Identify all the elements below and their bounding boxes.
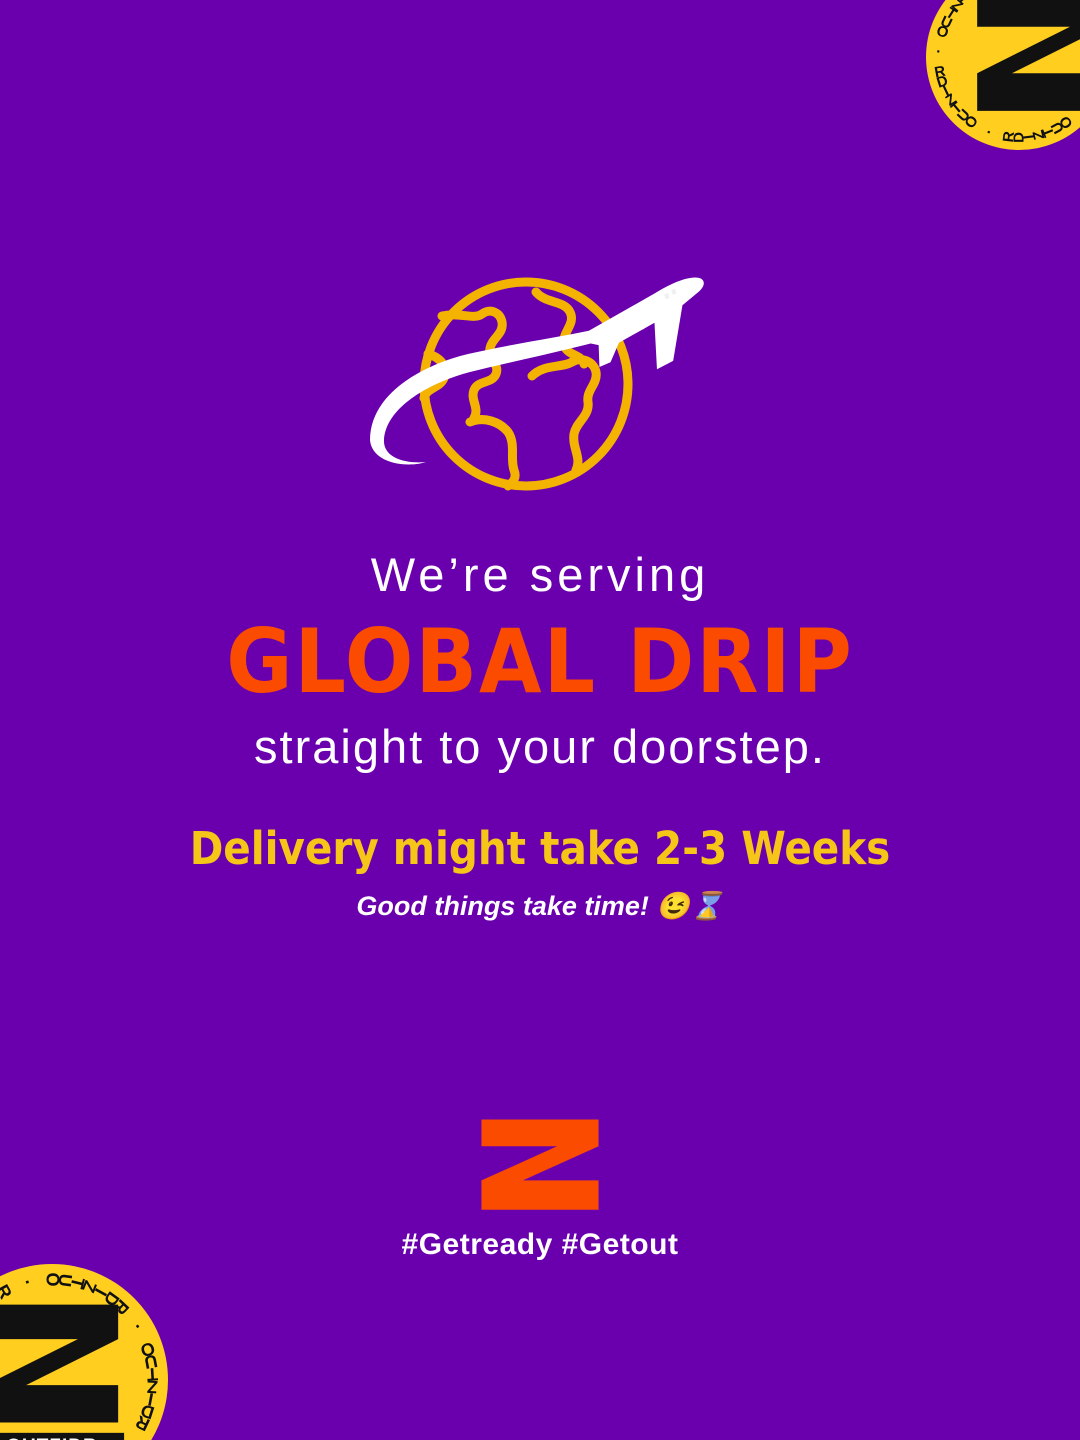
footer-block: #Getready #Getout xyxy=(0,1117,1080,1262)
headline-line-3: straight to your doorstep. xyxy=(0,719,1080,775)
delivery-subtext: Good things take time! 😉⌛ xyxy=(0,890,1080,922)
badge-ring-char: · xyxy=(16,1277,38,1289)
badge-ring-char: · xyxy=(128,1316,145,1337)
badge-ring-char: R xyxy=(1000,129,1018,143)
badge-wordmark-bottom-left: OUTZIDR xyxy=(0,1433,124,1440)
badge-z-mark-top-right: OUTZIDR xyxy=(969,0,1080,116)
outzidr-badge-top-right: OUTZIDR·OUTZIDR·OUTZIDR·OUTZIDR·OUTZIDR·… xyxy=(926,0,1080,150)
badge-z-mark-bottom-left: OUTZIDR xyxy=(0,1299,124,1440)
z-icon xyxy=(0,1299,124,1431)
badge-ring-char: R xyxy=(933,63,948,82)
promo-poster: OUTZIDR·OUTZIDR·OUTZIDR·OUTZIDR·OUTZIDR·… xyxy=(0,0,1080,1440)
footer-hashtags: #Getready #Getout xyxy=(0,1228,1080,1262)
badge-ring-char: · xyxy=(936,43,943,60)
z-icon xyxy=(969,0,1080,116)
badge-ring-char: R xyxy=(132,1410,154,1435)
headline-block: We’re serving GLOBAL DRIP straight to yo… xyxy=(0,548,1080,776)
outzidr-z-logo-icon xyxy=(479,1117,601,1212)
globe-airplane-illustration xyxy=(350,272,730,508)
delivery-estimate-text: Delivery might take 2-3 Weeks xyxy=(0,822,1080,876)
outzidr-badge-bottom-left: OUTZIDR·OUTZIDR·OUTZIDR·OUTZIDR·OUTZIDR·… xyxy=(0,1264,168,1440)
delivery-notice-block: Delivery might take 2-3 Weeks Good thing… xyxy=(0,822,1080,922)
continent-right xyxy=(532,360,596,470)
headline-line-1: We’re serving xyxy=(0,548,1080,602)
headline-line-2: GLOBAL DRIP xyxy=(0,608,1080,715)
badge-ring-char: · xyxy=(981,125,999,137)
globe-icon xyxy=(350,272,730,508)
